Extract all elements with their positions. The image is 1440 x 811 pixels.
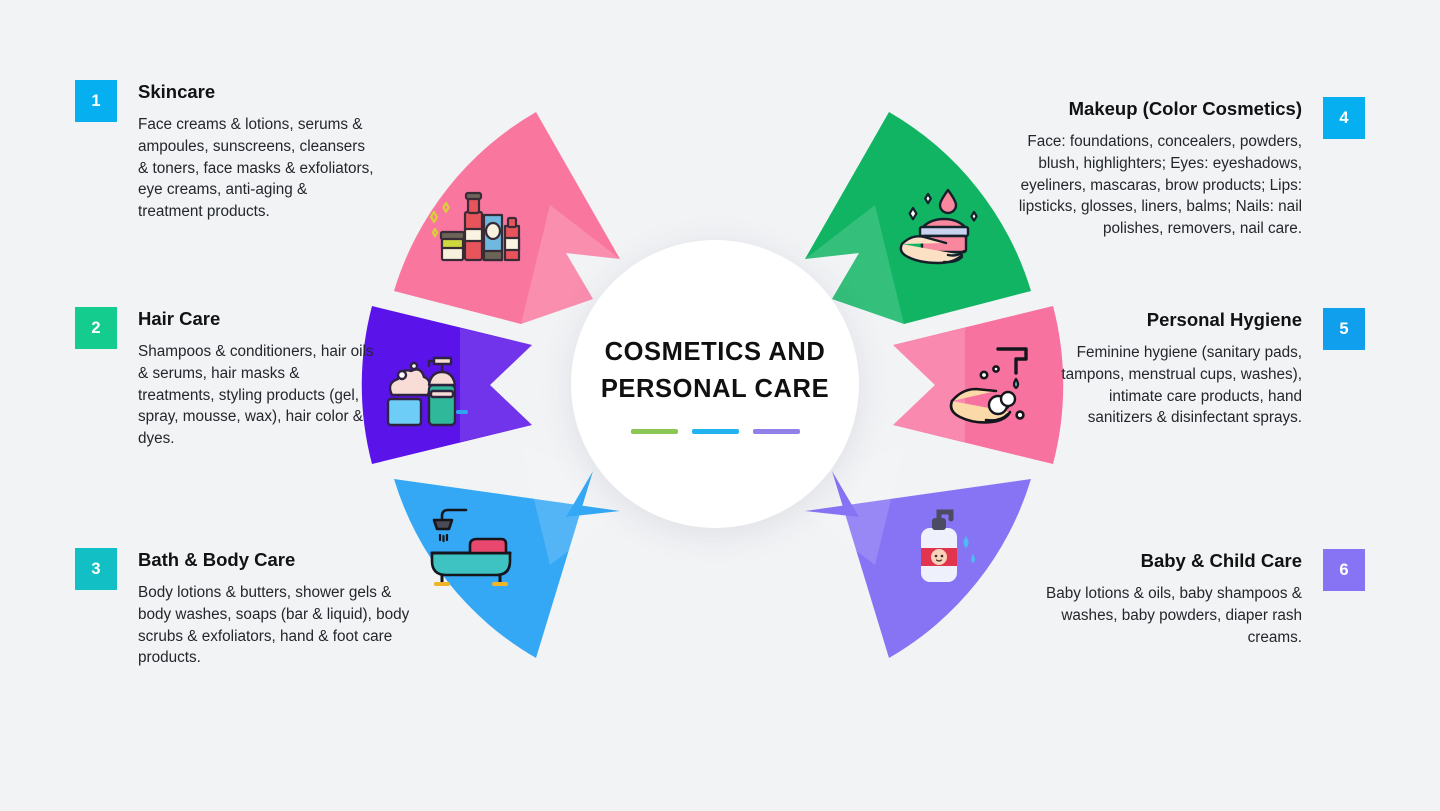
item-title-6: Baby & Child Care xyxy=(1043,549,1302,572)
center-title-line1: COSMETICS AND xyxy=(605,338,826,366)
petal-baby[interactable] xyxy=(805,446,1031,658)
item-title-5: Personal Hygiene xyxy=(1043,308,1302,331)
item-desc-2: Shampoos & conditioners, hair oils & ser… xyxy=(138,341,375,450)
accent-dashes xyxy=(631,429,800,434)
item-title-4: Makeup (Color Cosmetics) xyxy=(1010,97,1302,120)
accent-dash-green xyxy=(631,429,678,434)
petal-makeup[interactable] xyxy=(805,112,1031,324)
item-bath-body-care[interactable]: 3 Bath & Body Care Body lotions & butter… xyxy=(75,548,420,669)
infographic-canvas: COSMETICS AND PERSONAL CARE 1 Skincare F… xyxy=(0,0,1440,811)
accent-dash-blue xyxy=(692,429,739,434)
badge-5: 5 xyxy=(1323,308,1365,350)
accent-dash-purple xyxy=(753,429,800,434)
item-desc-3: Body lotions & butters, shower gels & bo… xyxy=(138,582,420,669)
item-desc-1: Face creams & lotions, serums & ampoules… xyxy=(138,114,375,223)
item-skincare[interactable]: 1 Skincare Face creams & lotions, serums… xyxy=(75,80,375,223)
badge-2: 2 xyxy=(75,307,117,349)
item-desc-4: Face: foundations, concealers, powders, … xyxy=(1010,131,1302,240)
petal-bathbody[interactable] xyxy=(394,446,620,658)
petal-hygiene[interactable] xyxy=(893,306,1063,464)
item-title-1: Skincare xyxy=(138,80,375,103)
page-title: COSMETICS AND PERSONAL CARE xyxy=(600,334,830,406)
item-makeup[interactable]: 4 Makeup (Color Cosmetics) Face: foundat… xyxy=(1010,97,1365,240)
item-hair-care[interactable]: 2 Hair Care Shampoos & conditioners, hai… xyxy=(75,307,375,450)
badge-4: 4 xyxy=(1323,97,1365,139)
petal-haircare[interactable] xyxy=(362,306,532,464)
badge-1: 1 xyxy=(75,80,117,122)
item-desc-6: Baby lotions & oils, baby shampoos & was… xyxy=(1043,583,1302,648)
item-personal-hygiene[interactable]: 5 Personal Hygiene Feminine hygiene (san… xyxy=(1043,308,1365,429)
center-title-line2: PERSONAL CARE xyxy=(601,375,829,403)
petal-skincare[interactable] xyxy=(394,112,620,324)
item-title-3: Bath & Body Care xyxy=(138,548,420,571)
item-title-2: Hair Care xyxy=(138,307,375,330)
badge-6: 6 xyxy=(1323,549,1365,591)
badge-3: 3 xyxy=(75,548,117,590)
item-baby-child-care[interactable]: 6 Baby & Child Care Baby lotions & oils,… xyxy=(1043,549,1365,648)
center-hub: COSMETICS AND PERSONAL CARE xyxy=(571,240,859,528)
item-desc-5: Feminine hygiene (sanitary pads, tampons… xyxy=(1043,342,1302,429)
